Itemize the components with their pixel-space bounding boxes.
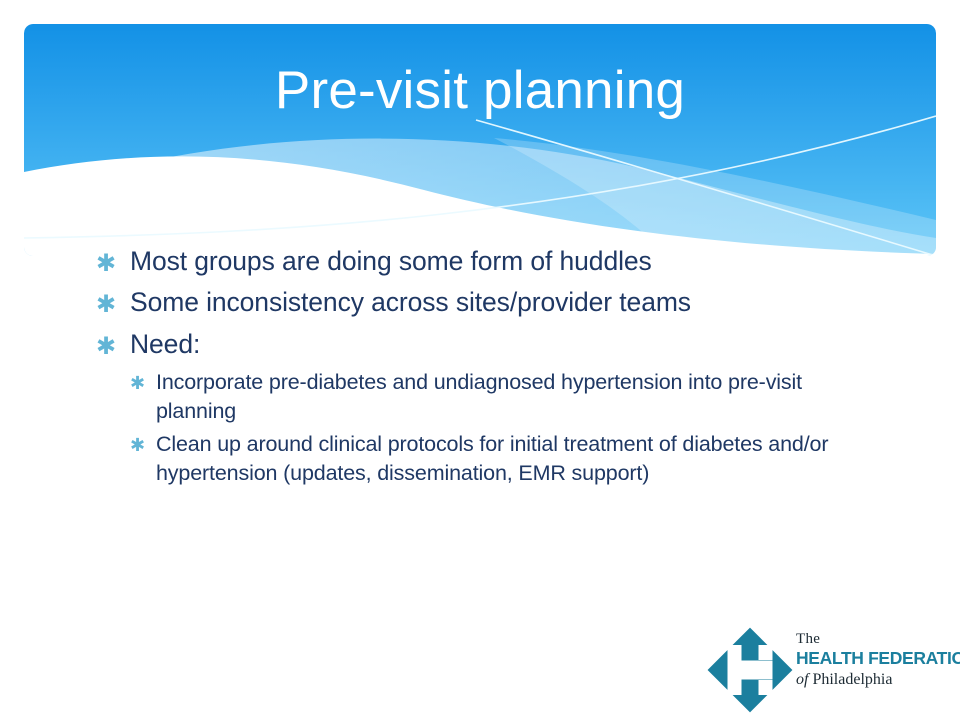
asterisk-bullet-icon: ✱ [96,244,130,276]
banner-graphic [24,24,936,256]
logo-of-word: of [796,671,808,688]
health-federation-diamond-h-icon [706,626,794,714]
organization-logo: The HEALTH FEDERATION of Philadelphia [706,624,936,716]
list-item: ✱ Most groups are doing some form of hud… [96,244,886,278]
asterisk-bullet-icon: ✱ [130,368,156,392]
slide-body-content: ✱ Most groups are doing some form of hud… [96,244,886,492]
asterisk-bullet-icon: ✱ [130,430,156,454]
asterisk-bullet-icon: ✱ [96,285,130,317]
logo-wordmark: The HEALTH FEDERATION of Philadelphia [796,632,946,689]
presentation-slide: Pre-visit planning ✱ Most groups are doi… [0,0,960,720]
slide-header-banner [24,24,936,256]
logo-philadelphia-word: Philadelphia [812,671,892,688]
logo-line-health-federation: HEALTH FEDERATION [796,648,946,670]
list-item: ✱ Clean up around clinical protocols for… [130,430,886,488]
page-title: Pre-visit planning [24,62,936,120]
list-item: ✱ Incorporate pre-diabetes and undiagnos… [130,368,886,426]
list-item: ✱ Need: [96,327,886,361]
bullet-text: Need: [130,327,886,361]
bullet-text: Some inconsistency across sites/provider… [130,285,886,319]
logo-line-the: The [796,632,946,648]
list-item: ✱ Some inconsistency across sites/provid… [96,285,886,319]
logo-line-of-philadelphia: of Philadelphia [796,670,946,689]
bullet-text: Clean up around clinical protocols for i… [156,430,876,488]
bullet-text: Incorporate pre-diabetes and undiagnosed… [156,368,876,426]
asterisk-bullet-icon: ✱ [96,327,130,359]
bullet-text: Most groups are doing some form of huddl… [130,244,886,278]
